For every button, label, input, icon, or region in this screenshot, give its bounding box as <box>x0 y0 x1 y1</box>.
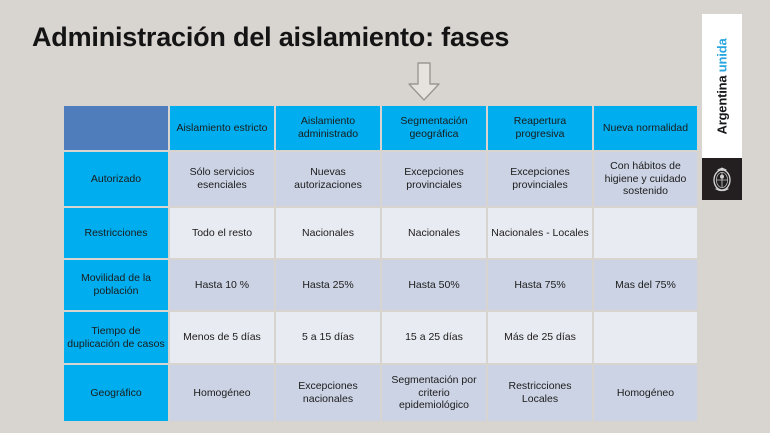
cell-autorizado-aislamiento-estricto: Sólo servicios esenciales <box>170 152 274 206</box>
row-header-tiempo-de-duplicacion-de-casos: Tiempo de duplicación de casos <box>64 312 168 363</box>
cell-movilidad-aislamiento-estricto: Hasta 10 % <box>170 260 274 310</box>
table-row: Tiempo de duplicación de casos Menos de … <box>64 312 697 363</box>
cell-geografico-aislamiento-administrado: Excepciones nacionales <box>276 365 380 421</box>
row-header-geografico: Geográfico <box>64 365 168 421</box>
cell-restricciones-reapertura-progresiva: Nacionales - Locales <box>488 208 592 258</box>
table-header-row: Aislamiento estricto Aislamiento adminis… <box>64 106 697 150</box>
cell-restricciones-aislamiento-administrado: Nacionales <box>276 208 380 258</box>
cell-restricciones-nueva-normalidad <box>594 208 697 258</box>
cell-geografico-reapertura-progresiva: Restricciones Locales <box>488 365 592 421</box>
cell-movilidad-nueva-normalidad: Mas del 75% <box>594 260 697 310</box>
cell-geografico-aislamiento-estricto: Homogéneo <box>170 365 274 421</box>
page-title: Administración del aislamiento: fases <box>32 22 509 53</box>
brand-word-argentina: Argentina <box>715 75 730 134</box>
cell-movilidad-segmentacion-geografica: Hasta 50% <box>382 260 486 310</box>
cell-tiempo-reapertura-progresiva: Más de 25 días <box>488 312 592 363</box>
table-corner-cell <box>64 106 168 150</box>
column-header-aislamiento-estricto: Aislamiento estricto <box>170 106 274 150</box>
brand-word-unida: unida <box>715 38 730 72</box>
coat-of-arms-svg <box>710 164 734 194</box>
brand-white-panel <box>702 14 742 158</box>
cell-restricciones-aislamiento-estricto: Todo el resto <box>170 208 274 258</box>
brand-wordmark: Argentina unida <box>702 14 742 158</box>
cell-movilidad-reapertura-progresiva: Hasta 75% <box>488 260 592 310</box>
row-header-movilidad-de-la-poblacion: Movilidad de la población <box>64 260 168 310</box>
row-header-autorizado: Autorizado <box>64 152 168 206</box>
table-row: Autorizado Sólo servicios esenciales Nue… <box>64 152 697 206</box>
cell-tiempo-nueva-normalidad <box>594 312 697 363</box>
argentina-coat-of-arms-icon <box>702 158 742 200</box>
cell-autorizado-aislamiento-administrado: Nuevas autorizaciones <box>276 152 380 206</box>
cell-tiempo-segmentacion-geografica: 15 a 25 días <box>382 312 486 363</box>
cell-geografico-segmentacion-geografica: Segmentación por criterio epidemiológico <box>382 365 486 421</box>
cell-autorizado-nueva-normalidad: Con hábitos de higiene y cuidado sosteni… <box>594 152 697 206</box>
cell-geografico-nueva-normalidad: Homogéneo <box>594 365 697 421</box>
table-row: Movilidad de la población Hasta 10 % Has… <box>64 260 697 310</box>
cell-tiempo-aislamiento-estricto: Menos de 5 días <box>170 312 274 363</box>
row-header-restricciones: Restricciones <box>64 208 168 258</box>
column-header-aislamiento-administrado: Aislamiento administrado <box>276 106 380 150</box>
table-row: Restricciones Todo el resto Nacionales N… <box>64 208 697 258</box>
brand-dark-panel <box>702 158 742 200</box>
down-arrow-svg <box>406 62 442 102</box>
cell-restricciones-segmentacion-geografica: Nacionales <box>382 208 486 258</box>
cell-movilidad-aislamiento-administrado: Hasta 25% <box>276 260 380 310</box>
column-header-nueva-normalidad: Nueva normalidad <box>594 106 697 150</box>
phases-table: Aislamiento estricto Aislamiento adminis… <box>62 104 699 423</box>
cell-autorizado-segmentacion-geografica: Excepciones provinciales <box>382 152 486 206</box>
slide-canvas: Administración del aislamiento: fases Ai… <box>0 0 770 433</box>
table-row: Geográfico Homogéneo Excepciones naciona… <box>64 365 697 421</box>
cell-autorizado-reapertura-progresiva: Excepciones provinciales <box>488 152 592 206</box>
column-header-segmentacion-geografica: Segmentación geográfica <box>382 106 486 150</box>
cell-tiempo-aislamiento-administrado: 5 a 15 días <box>276 312 380 363</box>
down-arrow-icon <box>406 62 442 102</box>
column-header-reapertura-progresiva: Reapertura progresiva <box>488 106 592 150</box>
